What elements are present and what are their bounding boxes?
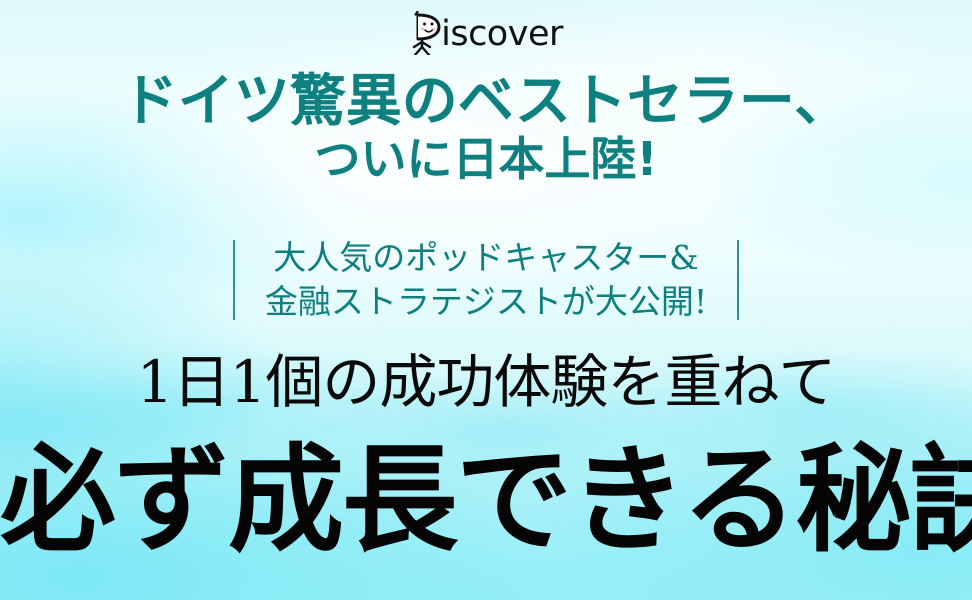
banner-content: iscover ドイツ驚異のベストセラー、 ついに日本上陸! 大人気のポッドキャ… xyxy=(0,0,972,600)
headline: ドイツ驚異のベストセラー、 ついに日本上陸! xyxy=(0,72,972,186)
discover-figure-d-mark xyxy=(409,11,443,55)
promo-banner: iscover ドイツ驚異のベストセラー、 ついに日本上陸! 大人気のポッドキャ… xyxy=(0,0,972,600)
subtitle-line-1: 大人気のポッドキャスター& xyxy=(265,236,707,280)
subtitle-block: 大人気のポッドキャスター& 金融ストラテジストが大公開! xyxy=(0,236,972,324)
subtitle-line-2: 金融ストラテジストが大公開! xyxy=(265,280,707,324)
main-headline-line-2: 必ず成長できる秘訣 xyxy=(0,438,972,563)
discover-wordmark: iscover xyxy=(441,17,563,52)
subtitle-rule-left xyxy=(233,240,235,320)
headline-line-1: ドイツ驚異のベストセラー、 xyxy=(0,72,972,132)
discover-logo[interactable]: iscover xyxy=(0,10,972,56)
subtitle-rule-right xyxy=(737,240,739,320)
subtitle-text: 大人気のポッドキャスター& 金融ストラテジストが大公開! xyxy=(265,236,707,324)
headline-line-2: ついに日本上陸! xyxy=(0,134,972,186)
main-headline-line-1: 1日1個の成功体験を重ねて xyxy=(0,352,972,413)
